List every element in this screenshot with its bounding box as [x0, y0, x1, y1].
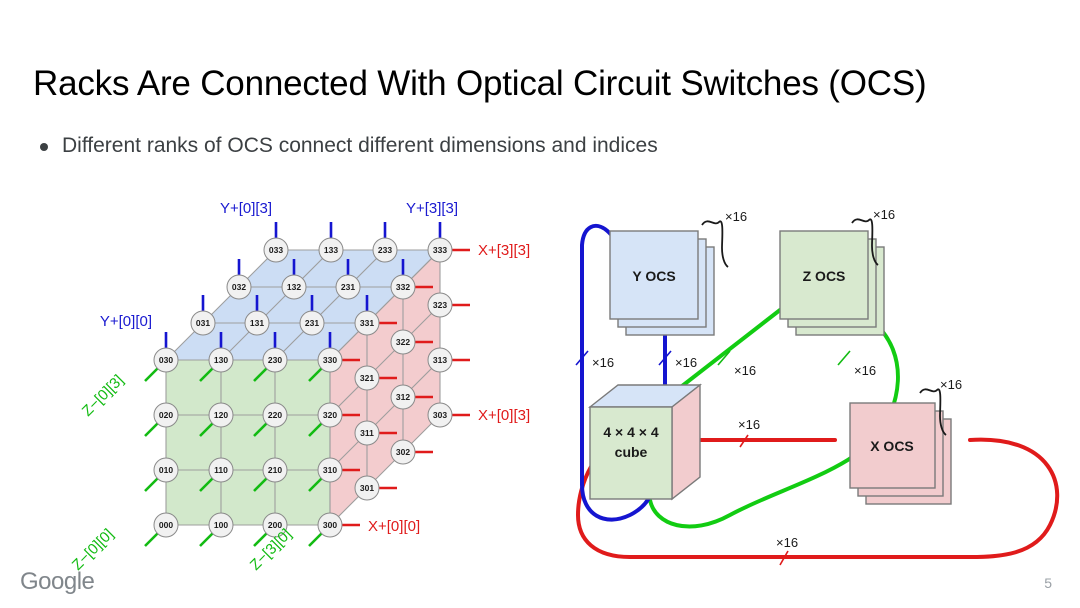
y-right-link-multiplier: ×16: [675, 355, 697, 370]
bullet-marker-icon: [40, 143, 48, 151]
node: 220: [263, 403, 287, 427]
node: 321: [355, 366, 379, 390]
node: 010: [154, 458, 178, 482]
ocs-topology-figure: Y OCS ×16 Z OCS ×16 X OCS ×16: [570, 185, 1075, 585]
node: 302: [391, 440, 415, 464]
node-label: 313: [433, 355, 447, 365]
node: 030: [154, 348, 178, 372]
node-label: 220: [268, 410, 282, 420]
google-logo: Google: [20, 568, 94, 596]
node-label: 323: [433, 300, 447, 310]
node: 322: [391, 330, 415, 354]
node-label: 030: [159, 355, 173, 365]
node: 333: [428, 238, 452, 262]
node: 210: [263, 458, 287, 482]
node-label: 311: [360, 428, 374, 438]
node-label: 310: [323, 465, 337, 475]
node-label: 330: [323, 355, 337, 365]
axis-label-y-mid-left: Y+[0][0]: [100, 313, 152, 330]
node: 310: [318, 458, 342, 482]
node: 132: [282, 275, 306, 299]
node: 330: [318, 348, 342, 372]
node: 100: [209, 513, 233, 537]
node: 131: [245, 311, 269, 335]
y-left-link-multiplier: ×16: [592, 355, 614, 370]
node-label: 231: [341, 282, 355, 292]
axis-label-y-top-left: Y+[0][3]: [220, 200, 272, 217]
z-ocs-label: Z OCS: [803, 268, 846, 284]
bullet-list: Different ranks of OCS connect different…: [40, 132, 940, 160]
node-label: 321: [360, 373, 374, 383]
node: 033: [264, 238, 288, 262]
node-label: 010: [159, 465, 173, 475]
axis-label-x-bottom-right: X+[0][0]: [368, 518, 420, 535]
node: 231: [336, 275, 360, 299]
node-label: 100: [214, 520, 228, 530]
node: 301: [355, 476, 379, 500]
slide-canvas: Racks Are Connected With Optical Circuit…: [0, 0, 1080, 608]
node-label: 131: [250, 318, 264, 328]
node: 000: [154, 513, 178, 537]
node-label: 110: [214, 465, 228, 475]
z-right-link-multiplier: ×16: [854, 363, 876, 378]
torus-grid-figure: 033 133 233 333 032 132 231 332 031 131 …: [60, 185, 580, 585]
page-number: 5: [1044, 575, 1052, 591]
node-label: 320: [323, 410, 337, 420]
node-label: 032: [232, 282, 246, 292]
node: 020: [154, 403, 178, 427]
node: 331: [355, 311, 379, 335]
cube-label-line1: 4 × 4 × 4: [603, 424, 658, 440]
axis-label-z-lower-left: Z−[0][0]: [69, 526, 117, 574]
axis-label-x-mid-right: X+[0][3]: [478, 407, 530, 424]
front-face-region: [166, 360, 330, 525]
node-label: 233: [378, 245, 392, 255]
ocs-topology-svg: Y OCS ×16 Z OCS ×16 X OCS ×16: [570, 185, 1075, 585]
node-label: 230: [268, 355, 282, 365]
node-label: 300: [323, 520, 337, 530]
y-ocs-multiplier: ×16: [725, 209, 747, 224]
z-ocs-multiplier: ×16: [873, 207, 895, 222]
x-ocs-label: X OCS: [870, 438, 914, 454]
node: 332: [391, 275, 415, 299]
cube-block[interactable]: 4 × 4 × 4 cube: [590, 385, 700, 499]
node-label: 120: [214, 410, 228, 420]
node-label: 231: [305, 318, 319, 328]
y-ocs-block[interactable]: Y OCS: [610, 231, 714, 335]
node-label: 020: [159, 410, 173, 420]
x-ocs-block[interactable]: X OCS: [850, 403, 951, 504]
x-top-link-multiplier: ×16: [738, 417, 760, 432]
node: 313: [428, 348, 452, 372]
axis-label-z-upper-left: Z−[0][3]: [79, 372, 127, 420]
node: 320: [318, 403, 342, 427]
node: 323: [428, 293, 452, 317]
node-label: 333: [433, 245, 447, 255]
node: 233: [373, 238, 397, 262]
node: 231: [300, 311, 324, 335]
node-label: 210: [268, 465, 282, 475]
y-ocs-label: Y OCS: [632, 268, 675, 284]
node: 300: [318, 513, 342, 537]
node-label: 322: [396, 337, 410, 347]
node-label: 331: [360, 318, 374, 328]
node: 303: [428, 403, 452, 427]
z-left-link-multiplier: ×16: [734, 363, 756, 378]
node-label: 031: [196, 318, 210, 328]
node-label: 301: [360, 483, 374, 493]
node: 031: [191, 311, 215, 335]
node-label: 302: [396, 447, 410, 457]
node-label: 000: [159, 520, 173, 530]
node: 133: [319, 238, 343, 262]
node-label: 130: [214, 355, 228, 365]
node: 130: [209, 348, 233, 372]
node: 032: [227, 275, 251, 299]
axis-label-y-top-right: Y+[3][3]: [406, 200, 458, 217]
node-label: 033: [269, 245, 283, 255]
node-label: 303: [433, 410, 447, 420]
bullet-item-text: Different ranks of OCS connect different…: [62, 132, 658, 160]
node: 311: [355, 421, 379, 445]
node-label: 133: [324, 245, 338, 255]
torus-grid-svg: 033 133 233 333 032 132 231 332 031 131 …: [60, 185, 580, 585]
page-title: Racks Are Connected With Optical Circuit…: [33, 62, 1043, 106]
axis-label-x-top-right: X+[3][3]: [478, 242, 530, 259]
node: 110: [209, 458, 233, 482]
node-label: 312: [396, 392, 410, 402]
x-ocs-multiplier: ×16: [940, 377, 962, 392]
z-ocs-block[interactable]: Z OCS: [780, 231, 884, 335]
node: 120: [209, 403, 233, 427]
node-label: 332: [396, 282, 410, 292]
node-label: 132: [287, 282, 301, 292]
cube-label-line2: cube: [615, 444, 648, 460]
node: 312: [391, 385, 415, 409]
x-bottom-link-multiplier: ×16: [776, 535, 798, 550]
node: 230: [263, 348, 287, 372]
